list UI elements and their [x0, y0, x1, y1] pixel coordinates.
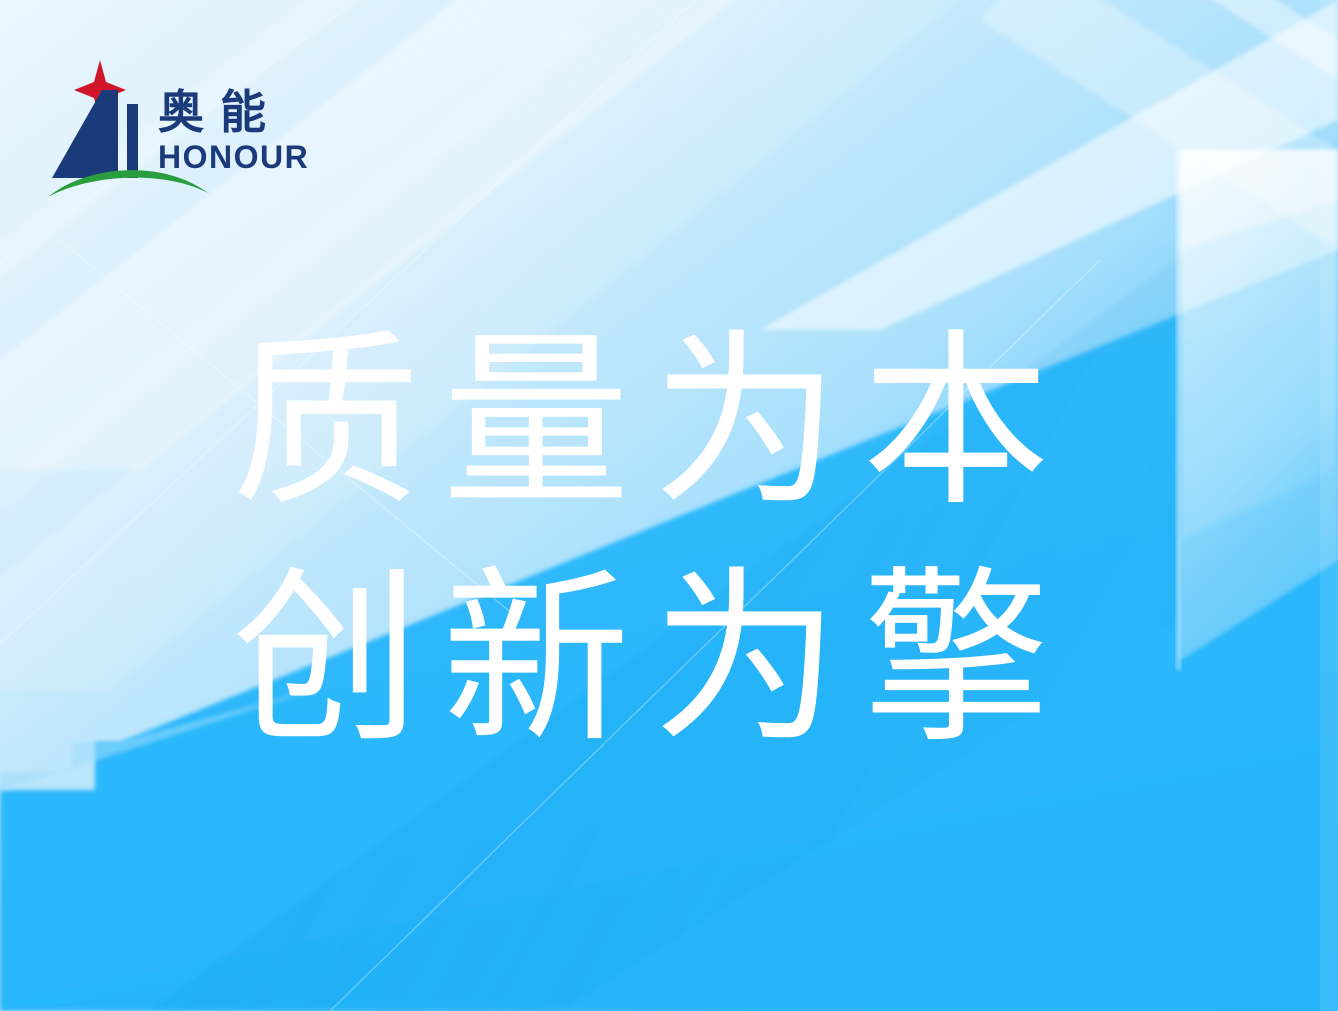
headline-line-1: 质量为本: [232, 306, 1132, 539]
logo-artwork: 奥 能 HONOUR: [46, 52, 316, 202]
logo-mark-slope: [52, 90, 102, 178]
headline-block: 质量为本 创新为擎: [232, 306, 1132, 776]
logo-mark-upright: [102, 90, 118, 178]
logo-mark-bar: [127, 104, 138, 178]
banner-canvas: 奥 能 HONOUR 质量为本 创新为擎: [0, 0, 1338, 1011]
headline-line-2: 创新为擎: [232, 543, 1132, 776]
logo-cn-name: 奥 能: [158, 85, 266, 139]
logo-en-name: HONOUR: [158, 139, 309, 175]
company-logo[interactable]: 奥 能 HONOUR: [46, 52, 316, 202]
